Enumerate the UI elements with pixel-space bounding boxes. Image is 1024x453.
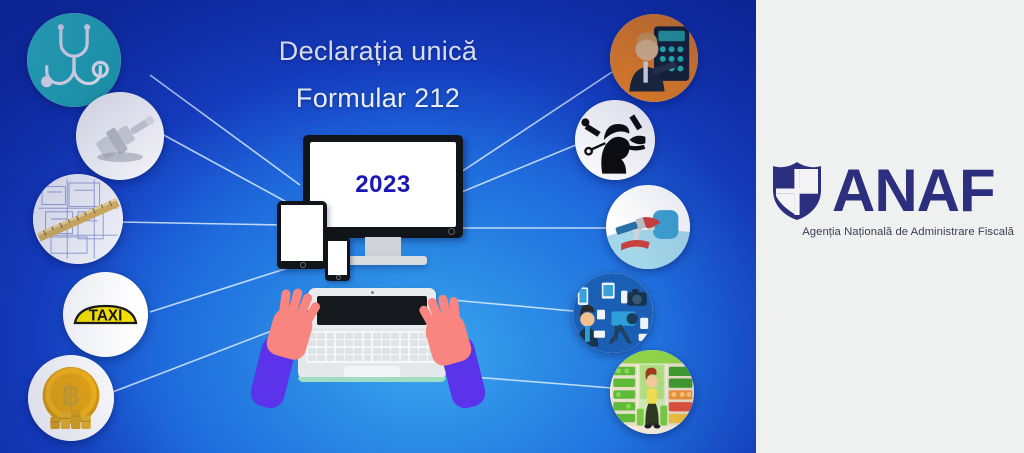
calculator-icon (610, 14, 698, 102)
left-shelves (612, 363, 637, 425)
circle-architecture[interactable] (33, 174, 123, 264)
hairdresser-icon (575, 100, 655, 180)
keyboard-row (308, 333, 436, 339)
circle-legal[interactable] (76, 92, 164, 180)
keyboard-row (308, 348, 436, 354)
laptop-camera-icon (371, 291, 374, 294)
laptop-base-strip (298, 377, 446, 382)
laptop-screen (317, 296, 427, 325)
banner-image: Declarația unică Formular 212 2023 (0, 0, 1024, 453)
year-label: 2023 (355, 171, 410, 199)
blue-background-panel: Declarația unică Formular 212 2023 (0, 0, 756, 453)
tablet (277, 201, 327, 269)
svg-text:฿: ฿ (62, 380, 81, 412)
keyboard-row (308, 355, 436, 361)
brand-tagline: Agenția Națională de Administrare Fiscal… (770, 226, 1014, 238)
grocery-shop-icon (610, 350, 694, 434)
phone-home-button (336, 275, 341, 280)
tablet-home-button (300, 262, 306, 268)
circle-hairdressing[interactable] (575, 100, 655, 180)
taxi-label: TAXI (89, 307, 123, 324)
laptop-lid (308, 288, 436, 328)
right-shelves (667, 363, 694, 425)
paint-roller-icon (606, 185, 690, 269)
tablet-screen (281, 205, 323, 261)
bitcoin-coin-icon: ฿ (28, 355, 114, 441)
circle-painting[interactable] (606, 185, 690, 269)
circle-accounting[interactable] (610, 14, 698, 102)
circle-retail[interactable] (610, 350, 694, 434)
monitor-screen: 2023 (310, 142, 456, 227)
banner-title: Declarația unică Formular 212 (228, 36, 528, 114)
gavel-icon (76, 92, 164, 180)
blueprint-ruler-icon (33, 174, 123, 264)
logo-panel: ANAF Agenția Națională de Administrare F… (756, 0, 1024, 453)
monitor-neck (365, 237, 401, 258)
shield-icon (770, 160, 824, 222)
phone-screen (328, 241, 347, 275)
title-line-1: Declarația unică (228, 36, 528, 67)
taxi-sign-icon: TAXI (63, 272, 148, 357)
laptop-keyboard (306, 331, 438, 363)
title-line-2: Formular 212 (228, 83, 528, 114)
electronics-icon (573, 273, 653, 353)
keyboard-row (308, 340, 436, 346)
anaf-logo: ANAF Agenția Națională de Administrare F… (770, 160, 1014, 238)
desktop-monitor: 2023 (303, 135, 463, 238)
circle-taxi[interactable]: TAXI (63, 272, 148, 357)
monitor-base (339, 256, 427, 265)
brand-wordmark: ANAF (832, 163, 995, 218)
device-cluster: 2023 (255, 133, 470, 283)
smartphone (325, 237, 350, 281)
circle-electronics[interactable] (573, 273, 653, 353)
laptop-with-hands (298, 288, 446, 408)
monitor-power-dot (448, 228, 455, 235)
circle-crypto[interactable]: ฿ (28, 355, 114, 441)
